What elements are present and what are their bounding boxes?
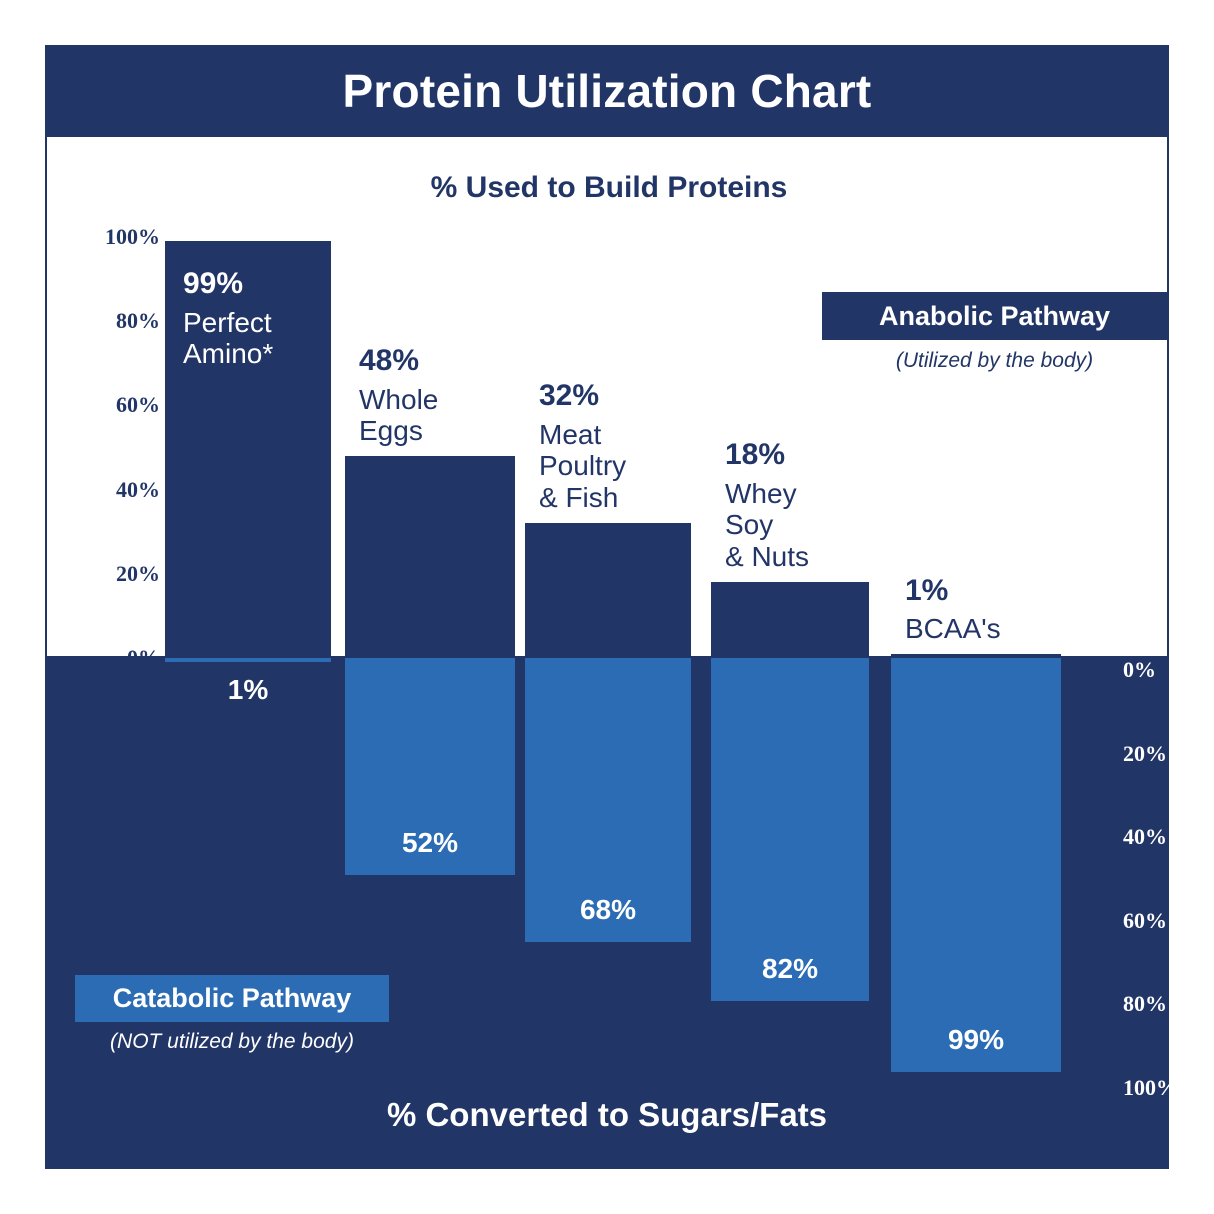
upper-plot-panel: % Used to Build Proteins <box>45 137 1169 658</box>
y-axis-tick-lower: 0% <box>1123 657 1156 683</box>
chart-title-bar: Protein Utilization Chart <box>45 45 1169 137</box>
anabolic-pathway-subtext: (Utilized by the body) <box>822 349 1167 373</box>
y-axis-tick-lower: 40% <box>1123 824 1167 850</box>
y-axis-tick-lower: 80% <box>1123 991 1167 1017</box>
upper-axis-title: % Used to Build Proteins <box>47 171 1171 205</box>
y-axis-lower: 0%20%40%60%80%100% <box>1123 658 1213 1124</box>
catabolic-pathway-badge: Catabolic Pathway <box>75 975 389 1022</box>
anabolic-pathway-label: Anabolic Pathway <box>879 301 1110 332</box>
catabolic-pathway-subtext: (NOT utilized by the body) <box>75 1030 389 1054</box>
lower-axis-title: % Converted to Sugars/Fats <box>45 1096 1169 1134</box>
y-axis-tick-lower: 60% <box>1123 908 1167 934</box>
y-axis-tick-upper: 80% <box>116 308 160 334</box>
y-axis-upper: 100%80%60%40%20%0% <box>75 45 160 566</box>
y-axis-tick-upper: 0% <box>127 645 160 671</box>
y-axis-tick-upper: 20% <box>116 561 160 587</box>
anabolic-pathway-badge: Anabolic Pathway <box>822 292 1167 340</box>
page-title: Protein Utilization Chart <box>343 64 872 118</box>
y-axis-tick-upper: 40% <box>116 477 160 503</box>
y-axis-tick-lower: 20% <box>1123 741 1167 767</box>
y-axis-tick-lower: 100% <box>1123 1075 1178 1101</box>
catabolic-pathway-label: Catabolic Pathway <box>113 983 352 1014</box>
chart-frame: Protein Utilization Chart % Used to Buil… <box>45 45 1169 1169</box>
y-axis-tick-upper: 60% <box>116 392 160 418</box>
lower-plot-panel: Catabolic Pathway (NOT utilized by the b… <box>45 658 1169 1169</box>
y-axis-tick-upper: 100% <box>105 224 160 250</box>
chart-canvas: Protein Utilization Chart % Used to Buil… <box>0 0 1214 1214</box>
